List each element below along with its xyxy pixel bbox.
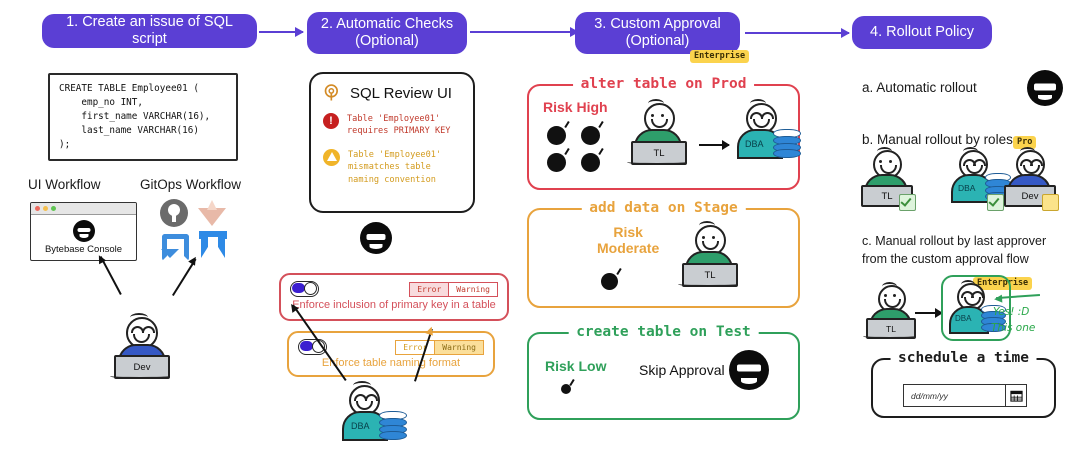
- role-dev-checkbox[interactable]: [1042, 194, 1059, 211]
- arrow-tl-to-dba-prod: [699, 144, 729, 146]
- dev-actor: Dev: [106, 313, 186, 381]
- sql-review-header: SQL Review UI: [311, 74, 473, 108]
- stage-3-sublabel: (Optional): [626, 33, 690, 50]
- rule-2-warning-option[interactable]: Warning: [435, 340, 484, 355]
- magnifier-icon: [323, 83, 343, 103]
- risk-high-label: Risk High: [543, 99, 608, 115]
- enterprise-badge: Enterprise: [690, 50, 749, 63]
- role-tl-label: TL: [881, 191, 892, 202]
- rule-2-error-option[interactable]: Error: [395, 340, 435, 355]
- rule-1-row: Error Warning: [281, 275, 507, 297]
- rule-primary-key[interactable]: Error Warning Enforce inclusion of prima…: [279, 273, 509, 321]
- skip-approval-label: Skip Approval: [639, 362, 725, 378]
- stage-3-label: 3. Custom Approval: [594, 16, 721, 33]
- approval-group-stage-title: add data on Stage: [581, 200, 745, 216]
- tl2-eye-right: [712, 236, 715, 239]
- database-icon-prod: [773, 129, 799, 156]
- bomb-icon-1: [547, 126, 566, 145]
- stage-pill-4[interactable]: 4. Rollout Policy: [852, 16, 992, 49]
- console-title: Bytebase Console: [45, 244, 122, 255]
- stage-3-badge-wrap: Enterprise: [690, 45, 749, 63]
- alert-warning-text: Table 'Employee01' mismatches table nami…: [348, 149, 441, 186]
- calendar-icon[interactable]: [1005, 385, 1026, 406]
- prod-approver-dba: DBA: [728, 99, 804, 179]
- alert-error-text: Table 'Employee01' requires PRIMARY KEY: [347, 113, 450, 138]
- approval-group-prod: alter table on Prod Risk High TL DBA: [527, 84, 800, 190]
- dba-eye-right: [365, 394, 378, 401]
- schedule-date-input[interactable]: dd/mm/yy: [903, 384, 1027, 407]
- c-tl-desk-base: [863, 333, 916, 339]
- bytebase-face-icon-checks: [360, 222, 392, 254]
- dba2-eye-right: [761, 112, 774, 119]
- arrow-c-tl-to-dba: [915, 312, 942, 314]
- bytebase-face-icon-test: [729, 350, 769, 390]
- schedule-title: schedule a time: [890, 350, 1037, 366]
- rule-1-severity-group[interactable]: Error Warning: [409, 282, 498, 297]
- gitlab-icon[interactable]: [198, 200, 226, 226]
- handwritten-note-line2: This one: [991, 321, 1035, 337]
- date-placeholder: dd/mm/yy: [904, 391, 1005, 401]
- arrow-dev-to-ui-workflow: [100, 256, 122, 295]
- stage-4-label: 4. Rollout Policy: [870, 24, 974, 41]
- stage-1-label: 1. Create an issue of SQL script: [52, 14, 247, 47]
- rule-1-error-option[interactable]: Error: [409, 282, 449, 297]
- tl-role-label: TL: [653, 148, 664, 159]
- rule-1-toggle[interactable]: [290, 281, 319, 297]
- bomb-icon-3: [547, 153, 566, 172]
- rollout-b-label: b. Manual rollout by roles: [862, 132, 1013, 147]
- bomb-icon-stage: [601, 273, 618, 290]
- rule-1-warning-option[interactable]: Warning: [449, 282, 498, 297]
- tl-desk-base: [627, 159, 687, 165]
- bytebase-face-icon: [73, 220, 95, 242]
- approval-group-prod-title: alter table on Prod: [573, 76, 755, 92]
- rollout-role-dev: Dev: [1000, 147, 1070, 209]
- stage-pill-1[interactable]: 1. Create an issue of SQL script: [42, 14, 257, 48]
- role-dba-label: DBA: [958, 183, 975, 193]
- dba-label: DBA: [351, 421, 370, 431]
- role-tl-checkbox[interactable]: [899, 194, 916, 211]
- warning-icon: [323, 149, 340, 166]
- c-tl-eye-left: [884, 294, 887, 297]
- stage-pill-2[interactable]: 2. Automatic Checks (Optional): [307, 12, 467, 54]
- rule-table-naming[interactable]: Error Warning Enforce table naming forma…: [287, 331, 495, 377]
- maximize-dot-icon: [51, 206, 56, 211]
- stage-approver-tl: TL: [677, 221, 753, 301]
- handwritten-note-line1: Yes! :D: [993, 305, 1029, 321]
- bitbucket-icon[interactable]: [199, 231, 227, 258]
- tl2-desk-base: [678, 281, 738, 287]
- dev-eye-right: [142, 326, 155, 333]
- bytebase-face-icon-rollout: [1027, 70, 1063, 106]
- role-tl-eye-right: [889, 160, 892, 163]
- rollout-c-label-line1: c. Manual rollout by last approver: [862, 234, 1046, 248]
- bytebase-console-window[interactable]: Bytebase Console: [30, 202, 137, 261]
- gitops-workflow-label: GitOps Workflow: [140, 177, 241, 192]
- bomb-icon-2: [581, 126, 600, 145]
- tl-eye-left: [651, 114, 654, 117]
- azure-devops-icon[interactable]: [160, 232, 187, 259]
- approval-group-test-title: create table on Test: [568, 324, 759, 340]
- role-dev-label: Dev: [1022, 191, 1039, 202]
- dev-label: Dev: [134, 362, 151, 373]
- database-icon: [379, 411, 405, 438]
- rule-2-caption: Enforce table naming format: [289, 355, 493, 374]
- bomb-icon-test: [561, 384, 571, 394]
- window-titlebar: [31, 203, 136, 215]
- sql-review-alert-warning: Table 'Employee01' mismatches table nami…: [311, 140, 473, 188]
- rollout-c-tl: TL: [862, 282, 932, 340]
- error-icon: !: [323, 113, 339, 129]
- approval-group-test: create table on Test Risk Low Skip Appro…: [527, 332, 800, 420]
- approval-group-stage: add data on Stage Risk Moderate TL: [527, 208, 800, 308]
- rule-2-severity-group[interactable]: Error Warning: [395, 340, 484, 355]
- arrow-stage2-stage3: [470, 31, 578, 33]
- arrow-dev-to-gitops-workflow: [172, 259, 196, 296]
- c-tl-label: TL: [886, 324, 896, 334]
- rollout-role-tl: TL: [857, 147, 927, 209]
- role-tl-eye-left: [879, 160, 882, 163]
- rule-1-caption: Enforce inclusion of primary key in a ta…: [281, 297, 507, 316]
- dev-desk-base: [110, 373, 170, 379]
- arrow-stage3-stage4: [745, 32, 849, 34]
- ui-workflow-label: UI Workflow: [28, 177, 101, 192]
- minimize-dot-icon: [43, 206, 48, 211]
- window-body: Bytebase Console: [31, 215, 136, 261]
- prod-approver-tl: TL: [626, 99, 702, 179]
- rollout-a-label: a. Automatic rollout: [862, 80, 977, 95]
- risk-moderate-label: Risk Moderate: [597, 224, 659, 256]
- github-icon[interactable]: [160, 199, 188, 227]
- rollout-c-label-line2: from the custom approval flow: [862, 252, 1029, 266]
- risk-low-label: Risk Low: [545, 358, 606, 374]
- c-dba-label: DBA: [955, 314, 971, 323]
- sql-code-block: CREATE TABLE Employee01 ( emp_no INT, fi…: [48, 73, 238, 161]
- c-tl-eye-right: [893, 294, 896, 297]
- stage-2-label: 2. Automatic Checks: [321, 16, 453, 33]
- close-dot-icon: [35, 206, 40, 211]
- dba2-role-label: DBA: [745, 139, 764, 149]
- schedule-box: schedule a time dd/mm/yy: [871, 358, 1056, 418]
- dba-actor-checks: DBA: [333, 381, 417, 443]
- stage-2-sublabel: (Optional): [355, 33, 419, 50]
- sql-review-card: SQL Review UI ! Table 'Employee01' requi…: [309, 72, 475, 213]
- tl2-eye-left: [702, 236, 705, 239]
- sql-review-title: SQL Review UI: [350, 85, 452, 102]
- bomb-icon-4: [581, 153, 600, 172]
- tl-eye-right: [661, 114, 664, 117]
- sql-review-alert-error: ! Table 'Employee01' requires PRIMARY KE…: [311, 108, 473, 140]
- arrow-stage1-stage2: [259, 31, 303, 33]
- tl2-role-label: TL: [704, 270, 715, 281]
